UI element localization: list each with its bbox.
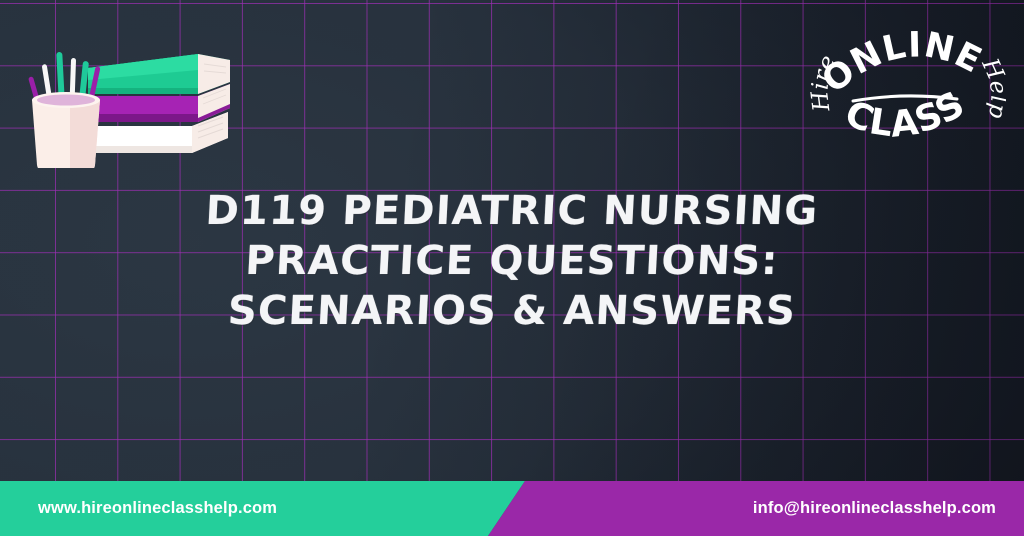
footer-email-link[interactable]: info@hireonlineclasshelp.com xyxy=(753,481,996,536)
footer-website-link[interactable]: www.hireonlineclasshelp.com xyxy=(38,481,277,536)
logo-word-online: ONLINE xyxy=(815,25,988,101)
logo-script-help: Help xyxy=(976,54,1006,121)
top-book-shape xyxy=(88,54,230,94)
headline-line-2: Practice Questions: xyxy=(119,236,906,286)
page-title: D119 Pediatric Nursing Practice Question… xyxy=(0,186,1024,336)
hire-online-class-help-logo: Hire ONLINE CLASS Help xyxy=(801,18,1006,150)
footer-bar: www.hireonlineclasshelp.com info@hireonl… xyxy=(0,481,1024,536)
blog-banner: Hire ONLINE CLASS Help D119 Pediatric Nu… xyxy=(0,0,1024,536)
logo-word-class: CLASS xyxy=(839,83,972,145)
books-illustration xyxy=(22,28,254,168)
headline-line-1: D119 Pediatric Nursing xyxy=(119,186,906,236)
headline-line-3: Scenarios & Answers xyxy=(119,286,906,336)
